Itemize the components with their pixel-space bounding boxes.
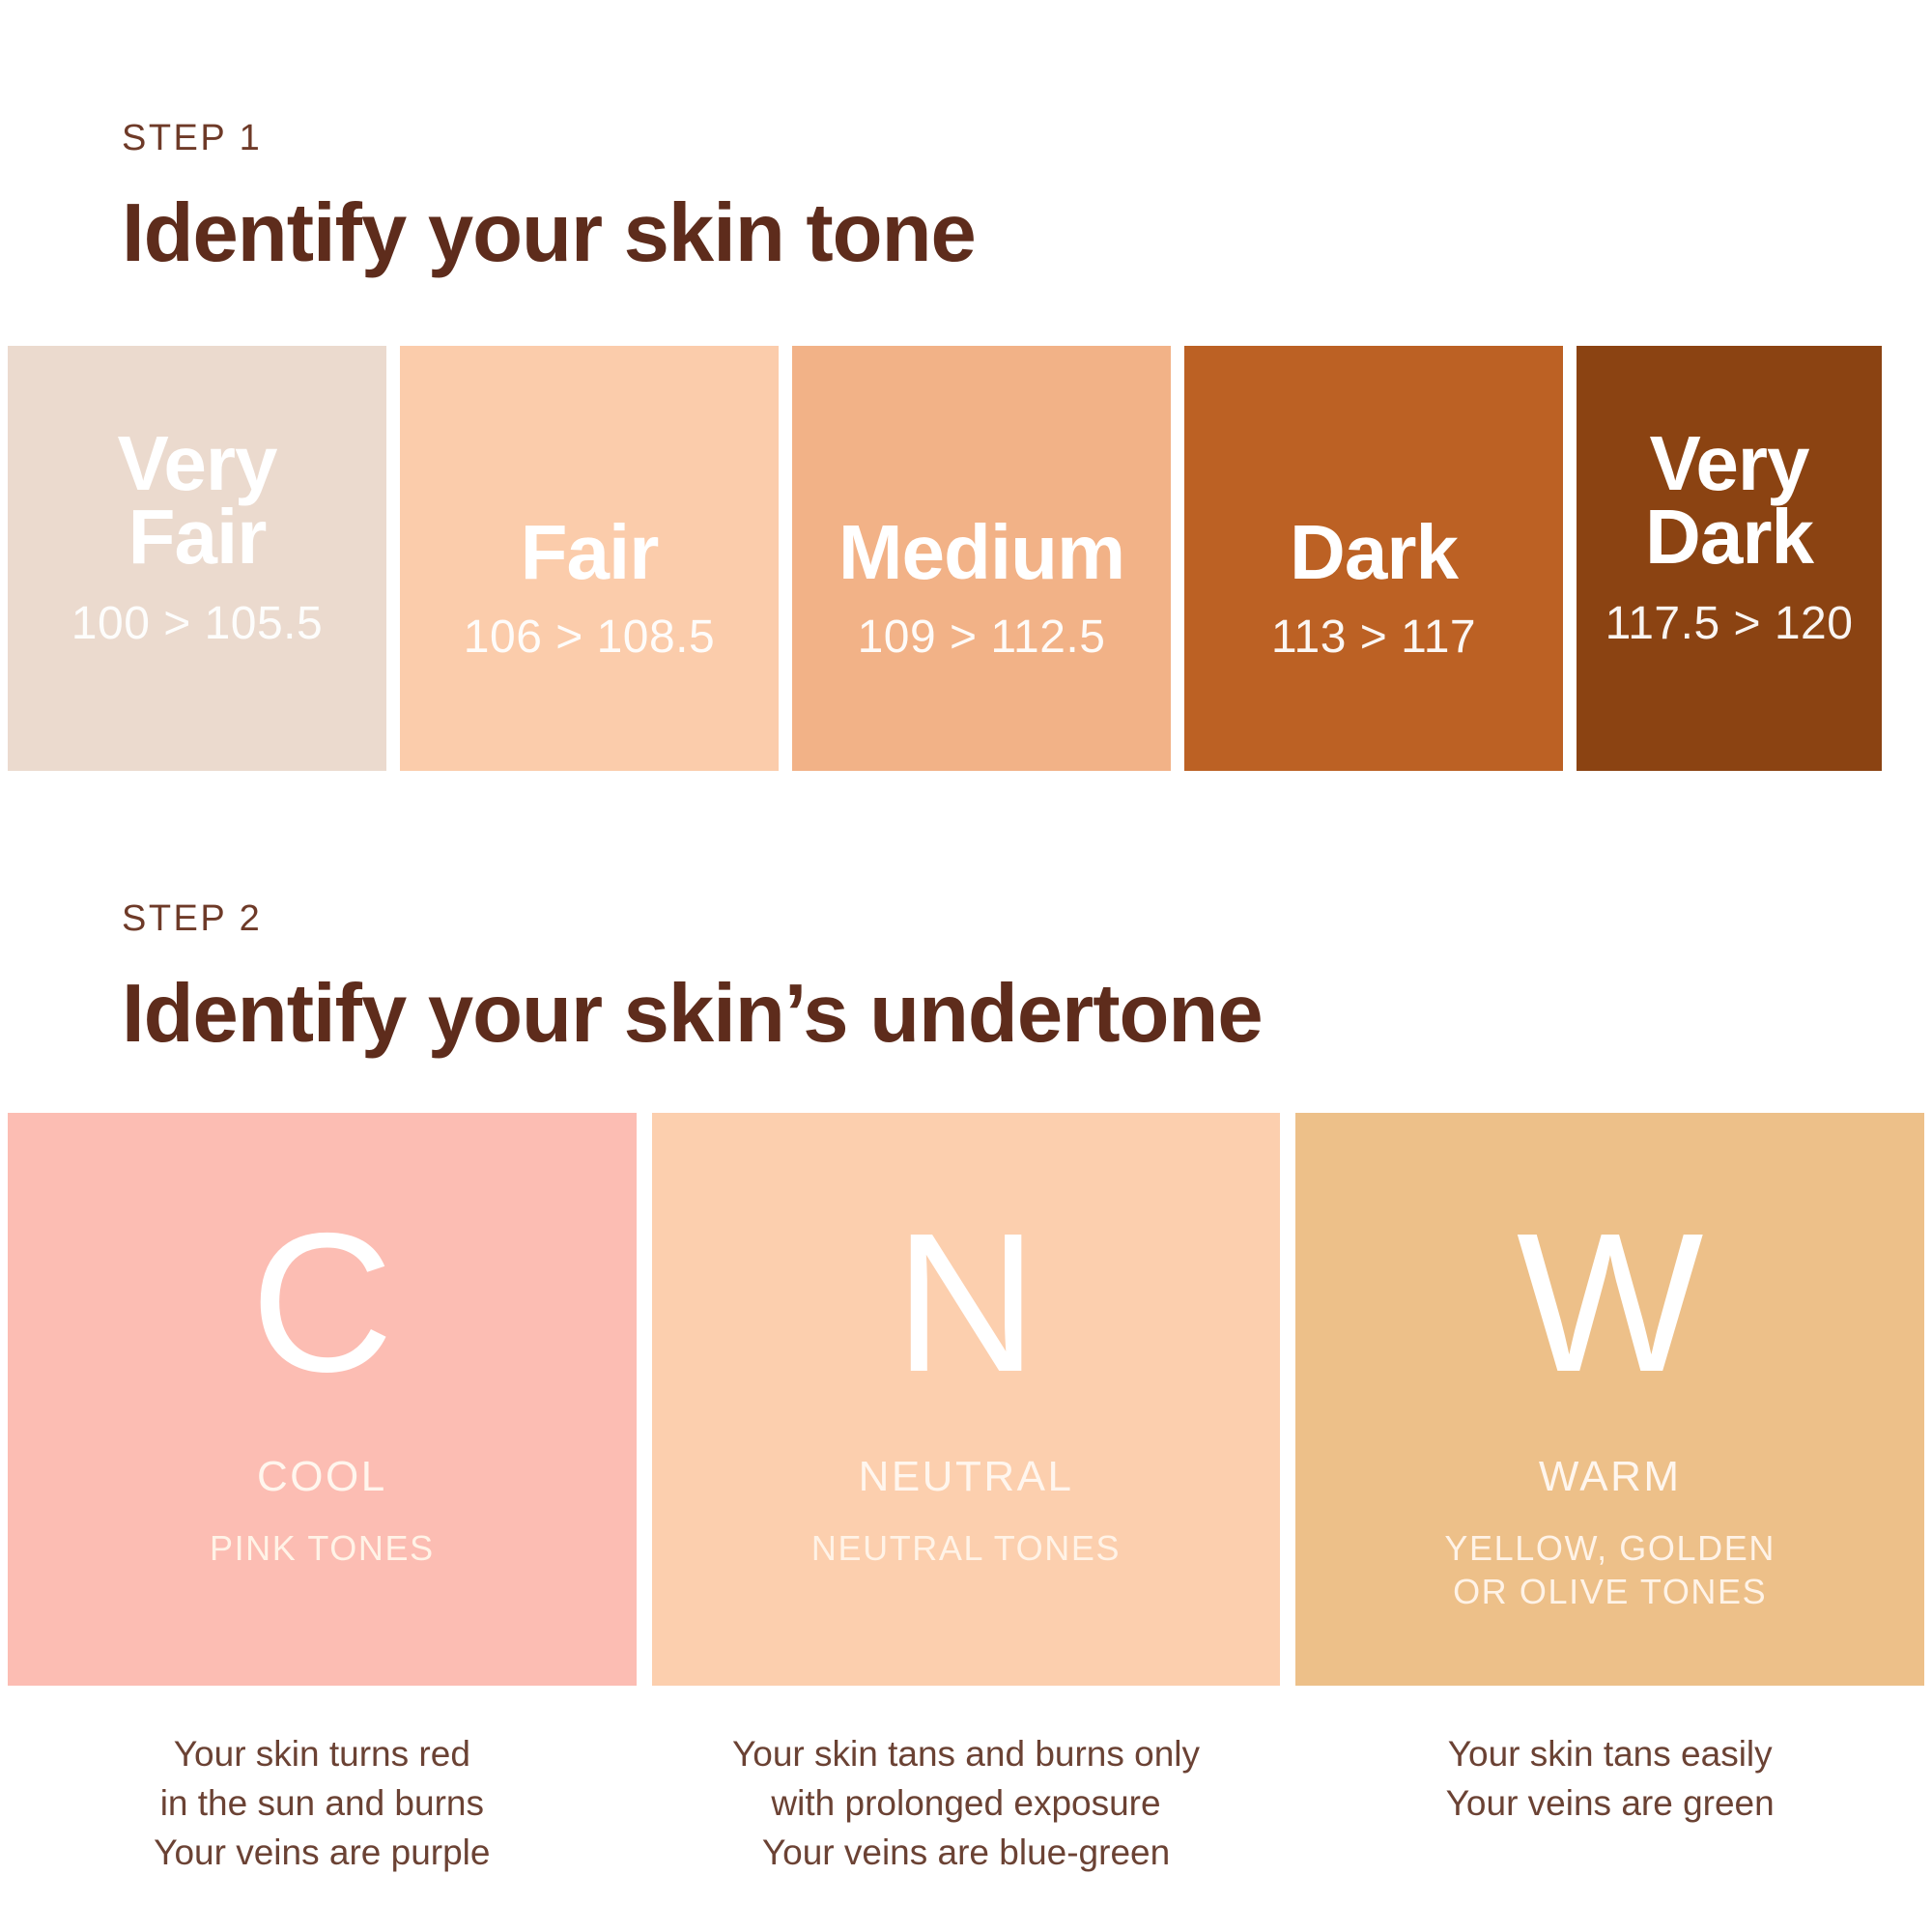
undertone-letter: W <box>1517 1214 1704 1393</box>
skin-tone-range: 109 > 112.5 <box>858 611 1106 664</box>
skin-tone-name: Very Fair <box>117 427 276 574</box>
skin-tone-name: Very Dark <box>1645 427 1813 574</box>
skin-tone-name: Medium <box>838 516 1124 589</box>
skin-tone-guide-page: STEP 1 Identify your skin tone Very Fair… <box>0 0 1932 1932</box>
step-1-heading: Identify your skin tone <box>122 192 976 274</box>
step-2-eyebrow: STEP 2 <box>122 898 1263 940</box>
skin-tone-swatch-row: Very Fair 100 > 105.5 Fair 106 > 108.5 M… <box>8 346 1924 771</box>
step-1-header: STEP 1 Identify your skin tone <box>122 118 976 274</box>
undertone-card-row: C COOL PINK TONES N NEUTRAL NEUTRAL TONE… <box>8 1113 1924 1686</box>
undertone-title: NEUTRAL <box>859 1453 1074 1501</box>
undertone-caption-warm: Your skin tans easily Your veins are gre… <box>1295 1729 1924 1877</box>
step-1-eyebrow: STEP 1 <box>122 118 976 159</box>
step-2-header: STEP 2 Identify your skin’s undertone <box>122 898 1263 1055</box>
undertone-letter: N <box>895 1214 1037 1393</box>
undertone-caption-neutral: Your skin tans and burns only with prolo… <box>652 1729 1281 1877</box>
undertone-caption-cool: Your skin turns red in the sun and burns… <box>8 1729 637 1877</box>
step-2-heading: Identify your skin’s undertone <box>122 973 1263 1055</box>
skin-tone-range: 113 > 117 <box>1271 611 1476 664</box>
undertone-title: COOL <box>257 1453 387 1501</box>
undertone-title: WARM <box>1539 1453 1682 1501</box>
skin-tone-name: Fair <box>521 516 659 589</box>
skin-tone-swatch-very-fair[interactable]: Very Fair 100 > 105.5 <box>8 346 386 771</box>
skin-tone-range: 100 > 105.5 <box>71 597 323 650</box>
skin-tone-swatch-very-dark[interactable]: Very Dark 117.5 > 120 <box>1577 346 1882 771</box>
skin-tone-swatch-dark[interactable]: Dark 113 > 117 <box>1184 346 1563 771</box>
undertone-card-cool[interactable]: C COOL PINK TONES <box>8 1113 637 1686</box>
undertone-caption-row: Your skin turns red in the sun and burns… <box>8 1729 1924 1877</box>
undertone-card-warm[interactable]: W WARM YELLOW, GOLDEN OR OLIVE TONES <box>1295 1113 1924 1686</box>
undertone-letter: C <box>250 1214 393 1393</box>
skin-tone-swatch-fair[interactable]: Fair 106 > 108.5 <box>400 346 779 771</box>
undertone-card-neutral[interactable]: N NEUTRAL NEUTRAL TONES <box>652 1113 1281 1686</box>
undertone-subtitle: YELLOW, GOLDEN OR OLIVE TONES <box>1444 1526 1776 1613</box>
skin-tone-range: 106 > 108.5 <box>464 611 715 664</box>
skin-tone-range: 117.5 > 120 <box>1605 597 1854 650</box>
skin-tone-name: Dark <box>1290 516 1458 589</box>
skin-tone-swatch-medium[interactable]: Medium 109 > 112.5 <box>792 346 1171 771</box>
undertone-subtitle: NEUTRAL TONES <box>811 1526 1121 1570</box>
undertone-subtitle: PINK TONES <box>210 1526 435 1570</box>
